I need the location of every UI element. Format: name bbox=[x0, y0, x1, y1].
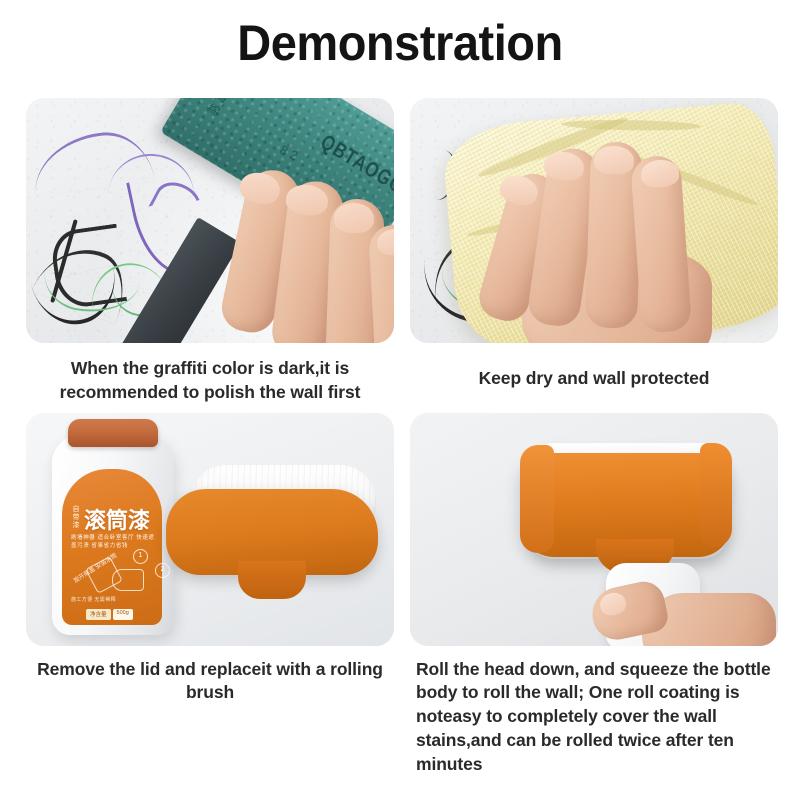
label-usage-diagram: 1 2 旋开瓶盖 安装滚筒 bbox=[72, 545, 154, 603]
step-card-2: Keep dry and wall protected bbox=[410, 98, 778, 405]
demonstration-page: Demonstration QBTAO bbox=[0, 0, 800, 800]
step-caption-2: Keep dry and wall protected bbox=[410, 343, 778, 391]
hand-holding-bottle bbox=[586, 571, 776, 646]
step-card-3: 自带漆 滚筒漆 刷墙神器 适合卧室客厅 快速遮盖污渍 省事省力省钱 1 2 旋开… bbox=[26, 413, 394, 777]
label-product-name: 滚筒漆 bbox=[84, 503, 150, 535]
diagram-hand-outline bbox=[112, 569, 144, 591]
label-footnote: 施工方便 无需稀释 bbox=[71, 596, 116, 603]
photo-hand-wiping-wall-with-yellow-cloth bbox=[410, 98, 778, 343]
fingernail bbox=[333, 202, 374, 233]
steps-grid: QBTAOGC 打磨海绵 8 2 When the graffiti color… bbox=[26, 98, 778, 777]
fingernail bbox=[594, 145, 635, 174]
page-title: Demonstration bbox=[24, 14, 776, 72]
bottle-cap bbox=[68, 419, 158, 447]
bottle-label: 自带漆 滚筒漆 刷墙神器 适合卧室客厅 快速遮盖污渍 省事省力省钱 1 2 旋开… bbox=[62, 469, 162, 625]
label-weight-group: 净含量 500g bbox=[86, 609, 133, 620]
photo-hand-rolling-paint-on-wall bbox=[410, 413, 778, 646]
roller-right-arm bbox=[700, 443, 732, 547]
step-caption-1: When the graffiti color is dark,it is re… bbox=[26, 343, 394, 405]
photo-sanding-sponge-on-graffiti-wall: QBTAOGC 打磨海绵 8 2 bbox=[26, 98, 394, 343]
label-weight-value: 500g bbox=[113, 609, 133, 620]
step-caption-4: Roll the head down, and squeeze the bott… bbox=[410, 646, 778, 777]
step-card-4: Roll the head down, and squeeze the bott… bbox=[410, 413, 778, 777]
hand-wiping bbox=[488, 130, 748, 343]
label-side-text: 自带漆 bbox=[70, 505, 80, 529]
hand-holding-sponge bbox=[214, 169, 394, 343]
label-weight-title: 净含量 bbox=[86, 609, 111, 620]
roller-connector-stub bbox=[238, 561, 306, 599]
step-caption-3: Remove the lid and replaceit with a roll… bbox=[26, 646, 394, 706]
step-card-1: QBTAOGC 打磨海绵 8 2 When the graffiti color… bbox=[26, 98, 394, 405]
diagram-step-badge-2: 2 bbox=[155, 563, 170, 578]
photo-paint-bottle-and-roller-head: 自带漆 滚筒漆 刷墙神器 适合卧室客厅 快速遮盖污渍 省事省力省钱 1 2 旋开… bbox=[26, 413, 394, 646]
roller-left-arm bbox=[520, 445, 554, 553]
diagram-step-badge-1: 1 bbox=[133, 549, 148, 564]
